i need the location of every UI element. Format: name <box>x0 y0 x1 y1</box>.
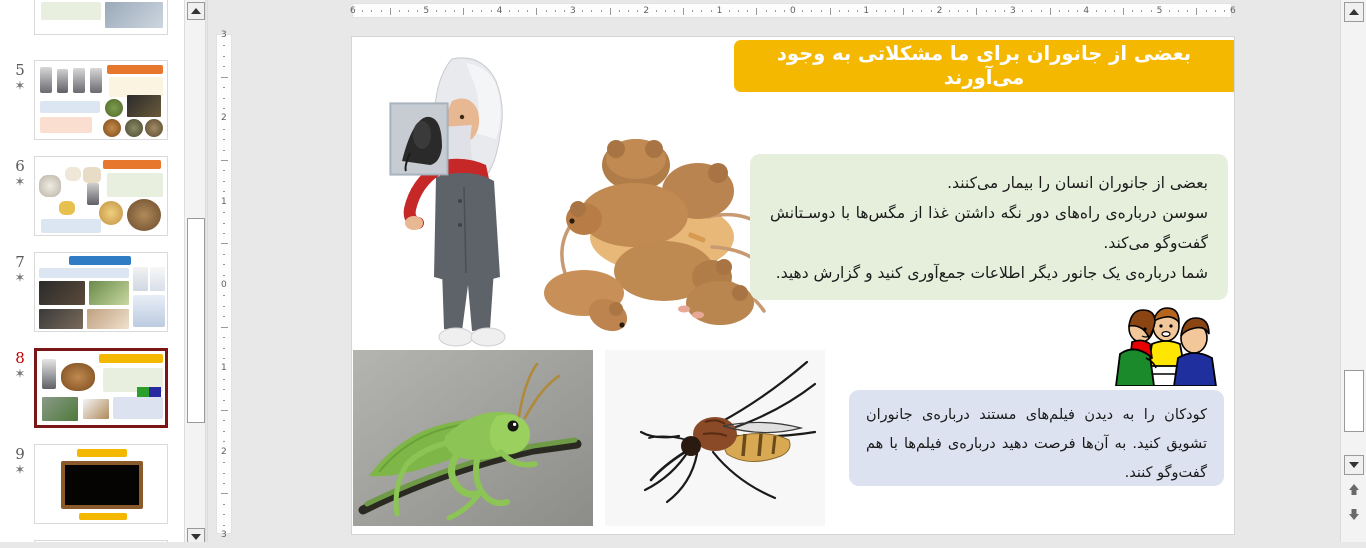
chevron-down-icon <box>1349 462 1359 468</box>
star-icon: ✶ <box>6 79 34 94</box>
ruler-tick <box>518 10 519 12</box>
ruler-label: 1 <box>221 197 227 207</box>
thumbnail-meta: 7 ✶ <box>0 252 34 286</box>
mini-caption-bar <box>79 513 127 520</box>
mini-textbox <box>113 397 163 419</box>
ruler-tick <box>221 410 228 411</box>
ruler-tick <box>610 8 611 15</box>
star-icon: ✶ <box>6 367 34 382</box>
ruler-tick <box>223 212 225 213</box>
horizontal-ruler[interactable]: 6543210123456 <box>236 0 1340 20</box>
ruler-tick <box>1196 8 1197 15</box>
thumbnail-number: 9 <box>6 446 34 463</box>
children-illustration <box>1100 302 1228 386</box>
ruler-label: 1 <box>717 6 723 16</box>
ruler-tick <box>223 389 225 390</box>
ruler-tick <box>221 243 228 244</box>
thumbnail-preview[interactable] <box>34 0 168 35</box>
thumbnail-number: 7 <box>6 254 34 271</box>
slide-thumbnail-panel[interactable]: 4 ✶ 5 ✶ <box>0 0 184 548</box>
thumbnail-number: 5 <box>6 62 34 79</box>
mini-figure <box>57 69 68 93</box>
ruler-tick <box>601 10 602 12</box>
ruler-tick <box>223 441 225 442</box>
ruler-tick <box>223 525 225 526</box>
ruler-tick <box>1178 10 1179 12</box>
mini-title-bar <box>69 256 131 265</box>
ruler-tick <box>223 316 225 317</box>
ruler-tick <box>811 10 812 12</box>
thumbnail-meta: 5 ✶ <box>0 60 34 94</box>
green-line-3: شما درباره‌ی یک جانور دیگر اطلاعات جمع‌آ… <box>770 258 1208 288</box>
mini-photo <box>61 363 95 391</box>
ruler-tick <box>536 8 537 15</box>
ruler-tick <box>371 10 372 12</box>
ruler-tick <box>463 8 464 15</box>
thumbnail-preview[interactable] <box>34 444 168 524</box>
ruler-tick <box>656 10 657 12</box>
ruler-tick <box>986 10 987 12</box>
ruler-tick <box>1215 10 1216 12</box>
mini-photo <box>89 281 129 305</box>
ruler-tick <box>223 87 225 88</box>
mini-figure <box>42 359 56 389</box>
ruler-label: 2 <box>643 6 649 16</box>
ruler-tick <box>857 10 858 12</box>
mini-figure <box>90 68 102 93</box>
ruler-tick <box>830 8 831 15</box>
scroll-up-button[interactable] <box>187 2 205 20</box>
scroll-down-button[interactable] <box>1344 455 1364 475</box>
ruler-tick <box>223 181 225 182</box>
ruler-tick <box>221 327 228 328</box>
ruler-tick <box>628 10 629 12</box>
ruler-tick <box>564 10 565 12</box>
ruler-tick <box>665 10 666 12</box>
ruler-tick <box>223 379 225 380</box>
ruler-tick <box>802 10 803 12</box>
ruler-label: 0 <box>790 6 796 16</box>
ruler-tick <box>221 493 228 494</box>
ruler-tick <box>223 337 225 338</box>
ruler-label: 3 <box>221 30 227 40</box>
ruler-tick <box>848 10 849 12</box>
thumbnail-slide-5[interactable]: 5 ✶ <box>0 60 184 140</box>
star-icon: ✶ <box>6 175 34 190</box>
mini-textbox <box>41 2 101 20</box>
ruler-tick <box>436 10 437 12</box>
ruler-tick <box>1031 10 1032 12</box>
ruler-tick <box>747 10 748 12</box>
ruler-tick <box>223 150 225 151</box>
mini-photo <box>59 201 75 215</box>
previous-slide-button[interactable] <box>1346 482 1362 498</box>
ruler-label: 3 <box>1010 6 1016 16</box>
mini-photo <box>133 295 165 327</box>
ruler-tick <box>223 358 225 359</box>
slide-title-banner[interactable]: بعضی از جانوران برای ما مشکلاتی به وجود … <box>734 40 1234 92</box>
ruler-tick <box>1169 10 1170 12</box>
ruler-label: 3 <box>570 6 576 16</box>
photo-mosquito[interactable] <box>605 350 825 526</box>
mini-photo <box>87 309 129 329</box>
ruler-tick <box>223 473 225 474</box>
presentation-window: 4 ✶ 5 ✶ <box>0 0 1366 548</box>
scrollbar-thumb[interactable] <box>187 218 205 423</box>
ruler-tick <box>223 66 225 67</box>
thumbnail-number: 6 <box>6 158 34 175</box>
ruler-tick <box>1022 10 1023 12</box>
ruler-tick <box>223 431 225 432</box>
ruler-tick <box>876 10 877 12</box>
mini-clipart <box>149 387 161 397</box>
mini-photo <box>83 399 109 419</box>
ruler-tick <box>223 170 225 171</box>
thumbnail-preview-selected[interactable] <box>34 348 168 428</box>
star-icon: ✶ <box>6 463 34 478</box>
ruler-tick <box>223 254 225 255</box>
vertical-ruler-track: 3210123 <box>216 34 232 534</box>
ruler-tick <box>894 10 895 12</box>
ruler-tick <box>491 10 492 12</box>
ruler-label: 4 <box>1083 6 1089 16</box>
ruler-tick <box>223 223 225 224</box>
scroll-up-button[interactable] <box>1344 2 1364 22</box>
ruler-tick <box>223 139 225 140</box>
ruler-tick <box>738 10 739 12</box>
mini-textbox <box>39 268 129 278</box>
ruler-tick <box>756 8 757 15</box>
ruler-tick <box>1187 10 1188 12</box>
ruler-tick <box>223 295 225 296</box>
ruler-tick <box>619 10 620 12</box>
ruler-tick <box>1096 10 1097 12</box>
mini-photo <box>127 199 161 231</box>
ruler-label: 6 <box>1230 6 1236 16</box>
double-chevron-down-icon <box>1347 507 1361 521</box>
ruler-tick <box>445 10 446 12</box>
mini-title-bar <box>107 65 163 74</box>
ruler-tick <box>417 10 418 12</box>
ruler-tick <box>223 56 225 57</box>
thumbnail-slide-4[interactable]: 4 ✶ <box>0 0 184 35</box>
slide-canvas-area[interactable]: بعضی از جانوران برای ما مشکلاتی به وجود … <box>236 20 1340 548</box>
ruler-tick <box>674 10 675 12</box>
ruler-tick <box>591 10 592 12</box>
current-slide[interactable]: بعضی از جانوران برای ما مشکلاتی به وجود … <box>352 37 1234 534</box>
mini-textbox <box>109 77 163 97</box>
star-icon: ✶ <box>6 271 34 286</box>
slide-view-scrollbar[interactable] <box>1340 0 1366 548</box>
ruler-tick <box>784 10 785 12</box>
mini-photo <box>39 309 83 329</box>
ruler-label: 6 <box>350 6 356 16</box>
ruler-label: 5 <box>423 6 429 16</box>
ruler-tick <box>362 10 363 12</box>
ruler-tick <box>1123 8 1124 15</box>
thumbnail-meta: 9 ✶ <box>0 444 34 478</box>
ruler-tick <box>223 45 225 46</box>
thumbnail-slide-8[interactable]: 8 ✶ <box>0 348 184 428</box>
ruler-label: 3 <box>221 530 227 540</box>
mosquito-illustration <box>605 350 825 526</box>
mini-photo <box>133 267 148 291</box>
ruler-tick <box>223 400 225 401</box>
ruler-tick <box>546 10 547 12</box>
double-chevron-up-icon <box>1347 483 1361 497</box>
ruler-tick <box>454 10 455 12</box>
ruler-label: 2 <box>937 6 943 16</box>
thumbnail-slide-7[interactable]: 7 ✶ <box>0 252 184 332</box>
ruler-tick <box>223 264 225 265</box>
ruler-label: 4 <box>497 6 503 16</box>
ruler-tick <box>223 191 225 192</box>
ruler-tick <box>766 10 767 12</box>
mini-figure <box>87 183 99 205</box>
ruler-tick <box>839 10 840 12</box>
ruler-tick <box>399 10 400 12</box>
ruler-tick <box>729 10 730 12</box>
ruler-tick <box>221 160 228 161</box>
ruler-tick <box>903 8 904 15</box>
ruler-tick <box>223 462 225 463</box>
mini-title-bar <box>77 449 127 457</box>
ruler-tick <box>223 233 225 234</box>
green-line-2: سوسن درباره‌ی راه‌های دور نگه داشتن غذا … <box>770 198 1208 258</box>
mini-textbox <box>41 219 101 233</box>
slide-title-text: بعضی از جانوران برای ما مشکلاتی به وجود … <box>748 42 1220 90</box>
ruler-tick <box>1132 10 1133 12</box>
thumbnail-meta: 8 ✶ <box>0 348 34 382</box>
thumbnail-slide-9[interactable]: 9 ✶ <box>0 444 184 524</box>
status-strip <box>0 542 1366 548</box>
ruler-label: 1 <box>221 363 227 373</box>
ruler-tick <box>1059 10 1060 12</box>
ruler-tick <box>381 10 382 12</box>
ruler-tick <box>1224 10 1225 12</box>
ruler-label: 5 <box>1157 6 1163 16</box>
ruler-tick <box>527 10 528 12</box>
ruler-tick <box>221 77 228 78</box>
chevron-up-icon <box>191 8 201 14</box>
ruler-tick <box>223 514 225 515</box>
mini-photo <box>39 281 85 305</box>
mini-photo <box>99 201 123 225</box>
ruler-tick <box>472 10 473 12</box>
ruler-tick <box>223 98 225 99</box>
ruler-tick <box>555 10 556 12</box>
mini-board <box>65 465 139 505</box>
ruler-tick <box>1050 8 1051 15</box>
ruler-label: 0 <box>221 280 227 290</box>
ruler-tick <box>481 10 482 12</box>
mini-photo <box>125 119 143 137</box>
chevron-up-icon <box>1349 9 1359 15</box>
photo-grasshopper[interactable] <box>353 350 593 526</box>
mini-photo <box>105 99 123 117</box>
ruler-tick <box>223 348 225 349</box>
ruler-tick <box>775 10 776 12</box>
ruler-tick <box>931 10 932 12</box>
thumbnail-preview[interactable] <box>34 252 168 332</box>
ruler-tick <box>1141 10 1142 12</box>
next-slide-button[interactable] <box>1346 506 1362 522</box>
green-content-box[interactable]: بعضی از جانوران انسان را بیمار می‌کنند. … <box>750 154 1228 300</box>
ruler-tick <box>1105 10 1106 12</box>
thumbnail-preview[interactable] <box>34 60 168 140</box>
mini-photo <box>83 167 101 183</box>
mini-clipart <box>137 387 149 397</box>
ruler-tick <box>408 10 409 12</box>
mini-photo <box>39 175 61 197</box>
mini-photo <box>127 95 161 117</box>
ruler-tick <box>1077 10 1078 12</box>
ruler-tick <box>223 504 225 505</box>
mini-title-bar <box>99 354 163 363</box>
mini-figure <box>40 67 52 93</box>
ruler-tick <box>223 275 225 276</box>
mini-figure <box>73 68 85 93</box>
ruler-tick <box>821 10 822 12</box>
thumbnail-preview[interactable] <box>34 156 168 236</box>
ruler-tick <box>223 129 225 130</box>
ruler-tick <box>1068 10 1069 12</box>
mini-photo <box>42 397 78 421</box>
grasshopper-illustration <box>353 350 593 526</box>
ruler-tick <box>995 10 996 12</box>
mini-textbox <box>40 101 100 113</box>
ruler-tick <box>1206 10 1207 12</box>
mini-photo <box>150 267 165 291</box>
ruler-tick <box>390 8 391 15</box>
ruler-tick <box>582 10 583 12</box>
horizontal-ruler-track: 6543210123456 <box>352 3 1232 18</box>
ruler-tick <box>223 108 225 109</box>
scrollbar-thumb[interactable] <box>1344 370 1364 432</box>
blue-note-text: کودکان را به دیدن فیلم‌های مستند درباره‌… <box>866 401 1207 488</box>
ruler-tick <box>683 8 684 15</box>
mini-photo <box>145 119 163 137</box>
ruler-label: 2 <box>221 447 227 457</box>
ruler-tick <box>1114 10 1115 12</box>
mini-textbox <box>107 173 163 197</box>
ruler-tick <box>509 10 510 12</box>
thumbnail-slide-6[interactable]: 6 ✶ <box>0 156 184 236</box>
ruler-tick <box>885 10 886 12</box>
ruler-tick <box>692 10 693 12</box>
ruler-tick <box>912 10 913 12</box>
thumbnail-scrollbar[interactable] <box>184 0 206 548</box>
thumbnail-number: 8 <box>6 350 34 367</box>
blue-note-box[interactable]: کودکان را به دیدن فیلم‌های مستند درباره‌… <box>849 390 1224 486</box>
mini-textbox <box>40 117 92 133</box>
ruler-tick <box>1041 10 1042 12</box>
ruler-tick <box>976 8 977 15</box>
mini-photo <box>105 2 163 28</box>
ruler-tick <box>1004 10 1005 12</box>
ruler-tick <box>223 420 225 421</box>
ruler-label: 2 <box>221 113 227 123</box>
ruler-tick <box>958 10 959 12</box>
ruler-tick <box>637 10 638 12</box>
ruler-tick <box>711 10 712 12</box>
vertical-ruler[interactable]: 3210123 <box>212 20 236 548</box>
ruler-label: 1 <box>863 6 869 16</box>
ruler-tick <box>921 10 922 12</box>
chevron-down-icon <box>191 534 201 540</box>
ruler-tick <box>223 483 225 484</box>
ruler-tick <box>1151 10 1152 12</box>
green-line-1: بعضی از جانوران انسان را بیمار می‌کنند. <box>770 168 1208 198</box>
panel-divider <box>207 0 208 548</box>
clipart-children-discussing[interactable] <box>1100 302 1228 386</box>
ruler-tick <box>223 306 225 307</box>
mini-title-bar <box>103 160 161 169</box>
thumbnail-meta: 6 ✶ <box>0 156 34 190</box>
ruler-tick <box>967 10 968 12</box>
ruler-tick <box>701 10 702 12</box>
mini-photo <box>65 167 81 181</box>
ruler-tick <box>949 10 950 12</box>
mini-photo <box>103 119 121 137</box>
